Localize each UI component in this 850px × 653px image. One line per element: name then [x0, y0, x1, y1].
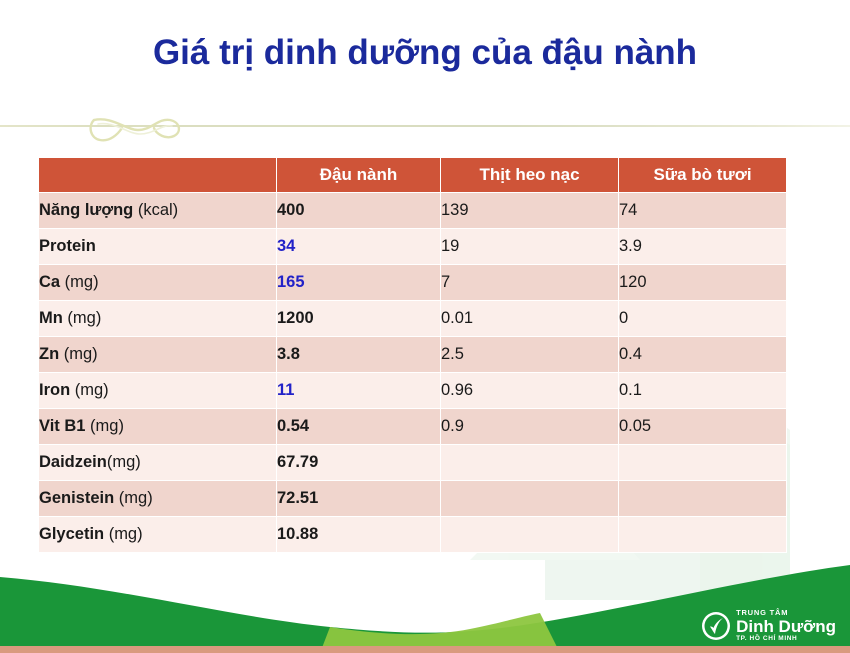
logo-main-line: Dinh Dưỡng [736, 618, 836, 635]
flourish-ornament [82, 108, 192, 152]
soy-value-cell: 34 [277, 229, 441, 265]
nutrient-name: Ca [39, 273, 60, 291]
soy-value-cell: 11 [277, 373, 441, 409]
soy-value-cell: 72.51 [277, 481, 441, 517]
nutrient-name: Glycetin [39, 525, 104, 543]
nutrient-label-cell: Mn (mg) [39, 301, 277, 337]
table-row: Ca (mg)1657120 [39, 265, 787, 301]
nutrient-name: Genistein [39, 489, 114, 507]
nutrient-name: Protein [39, 237, 96, 255]
nutrient-unit: (mg) [70, 381, 109, 399]
table-row: Zn (mg)3.82.50.4 [39, 337, 787, 373]
nutrient-unit: (mg) [107, 453, 141, 471]
page-title: Giá trị dinh dưỡng của đậu nành [0, 33, 850, 73]
nutrient-unit: (mg) [104, 525, 143, 543]
nutrient-label-cell: Genistein (mg) [39, 481, 277, 517]
nutrition-table: Đậu nành Thịt heo nạc Sữa bò tươi Năng l… [38, 157, 787, 553]
pork-value-cell: 2.5 [441, 337, 619, 373]
organization-logo: TRUNG TÂM Dinh Dưỡng TP. HỒ CHÍ MINH [701, 609, 836, 642]
milk-value-cell: 3.9 [619, 229, 787, 265]
table-row: Glycetin (mg)10.88 [39, 517, 787, 553]
milk-value-cell [619, 445, 787, 481]
milk-value-cell: 0.1 [619, 373, 787, 409]
nutrient-label-cell: Daidzein(mg) [39, 445, 277, 481]
pork-value-cell: 19 [441, 229, 619, 265]
soy-value-cell: 10.88 [277, 517, 441, 553]
slide-canvas: Giá trị dinh dưỡng của đậu nành Đậu nành [0, 0, 850, 653]
table-body: Năng lượng (kcal)40013974Protein34193.9C… [39, 193, 787, 553]
column-header-nutrient [39, 158, 277, 193]
nutrient-label-cell: Zn (mg) [39, 337, 277, 373]
soy-value-cell: 67.79 [277, 445, 441, 481]
pork-value-cell: 0.96 [441, 373, 619, 409]
nutrient-name: Iron [39, 381, 70, 399]
footer-bottom-strip [0, 646, 850, 653]
table-row: Daidzein(mg)67.79 [39, 445, 787, 481]
pork-value-cell: 7 [441, 265, 619, 301]
milk-value-cell: 120 [619, 265, 787, 301]
nutrient-name: Zn [39, 345, 59, 363]
logo-top-line: TRUNG TÂM [736, 609, 836, 617]
soy-value-cell: 3.8 [277, 337, 441, 373]
table-row: Protein34193.9 [39, 229, 787, 265]
table-row: Genistein (mg)72.51 [39, 481, 787, 517]
logo-bottom-line: TP. HỒ CHÍ MINH [736, 636, 836, 643]
nutrient-name: Mn [39, 309, 63, 327]
nutrient-label-cell: Ca (mg) [39, 265, 277, 301]
table-row: Mn (mg)12000.010 [39, 301, 787, 337]
table-row: Năng lượng (kcal)40013974 [39, 193, 787, 229]
nutrient-label-cell: Iron (mg) [39, 373, 277, 409]
soy-value-cell: 400 [277, 193, 441, 229]
soy-value-cell: 0.54 [277, 409, 441, 445]
pork-value-cell: 0.9 [441, 409, 619, 445]
logo-text-block: TRUNG TÂM Dinh Dưỡng TP. HỒ CHÍ MINH [736, 609, 836, 642]
leaf-circle-icon [701, 611, 731, 641]
milk-value-cell: 0 [619, 301, 787, 337]
nutrient-name: Daidzein [39, 453, 107, 471]
milk-value-cell: 74 [619, 193, 787, 229]
soy-value-cell: 165 [277, 265, 441, 301]
nutrient-label-cell: Năng lượng (kcal) [39, 193, 277, 229]
table-row: Iron (mg)110.960.1 [39, 373, 787, 409]
nutrient-unit: (mg) [114, 489, 153, 507]
ornamental-divider [0, 108, 850, 152]
nutrient-name: Năng lượng [39, 201, 133, 219]
pork-value-cell: 139 [441, 193, 619, 229]
milk-value-cell: 0.4 [619, 337, 787, 373]
table-row: Vit B1 (mg)0.540.90.05 [39, 409, 787, 445]
pork-value-cell [441, 481, 619, 517]
column-header-milk: Sữa bò tươi [619, 158, 787, 193]
soy-value-cell: 1200 [277, 301, 441, 337]
milk-value-cell: 0.05 [619, 409, 787, 445]
column-header-pork: Thịt heo nạc [441, 158, 619, 193]
nutrient-unit: (mg) [85, 417, 124, 435]
column-header-soy: Đậu nành [277, 158, 441, 193]
nutrient-unit: (kcal) [133, 201, 178, 219]
nutrient-label-cell: Protein [39, 229, 277, 265]
nutrient-unit: (mg) [63, 309, 102, 327]
nutrient-unit: (mg) [59, 345, 98, 363]
nutrient-label-cell: Vit B1 (mg) [39, 409, 277, 445]
table-header-row: Đậu nành Thịt heo nạc Sữa bò tươi [39, 158, 787, 193]
milk-value-cell [619, 517, 787, 553]
nutrient-label-cell: Glycetin (mg) [39, 517, 277, 553]
pork-value-cell [441, 445, 619, 481]
nutrient-name: Vit B1 [39, 417, 85, 435]
milk-value-cell [619, 481, 787, 517]
nutrient-unit: (mg) [60, 273, 99, 291]
pork-value-cell [441, 517, 619, 553]
pork-value-cell: 0.01 [441, 301, 619, 337]
